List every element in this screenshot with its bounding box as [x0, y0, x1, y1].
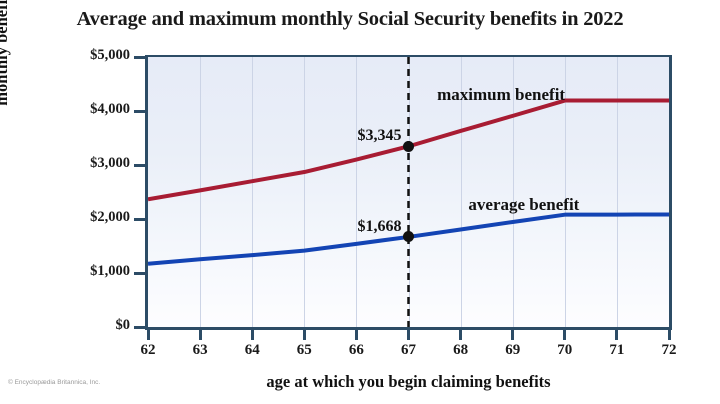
x-axis-tick-mark [511, 329, 514, 340]
x-axis-tick-mark [459, 329, 462, 340]
x-axis-tick-mark [251, 329, 254, 340]
x-axis-tick-label: 66 [336, 342, 376, 359]
x-axis-tick-label: 62 [128, 342, 168, 359]
x-axis-tick-mark [563, 329, 566, 340]
plot-area: $3,345$1,668maximum benefitaverage benef… [145, 55, 672, 330]
y-axis-tick-label: $0 [38, 317, 130, 334]
y-axis-title: monthly benefit [0, 0, 12, 150]
x-axis-tick-label: 69 [493, 342, 533, 359]
x-axis-tick-label: 64 [232, 342, 272, 359]
plot-inner: $3,345$1,668maximum benefitaverage benef… [148, 57, 669, 327]
x-axis-tick-label: 70 [545, 342, 585, 359]
x-axis-tick-label: 68 [441, 342, 481, 359]
x-axis-tick-label: 71 [597, 342, 637, 359]
x-axis-tick-mark [355, 329, 358, 340]
x-axis-title: age at which you begin claiming benefits [145, 372, 672, 392]
copyright-credit: © Encyclopædia Britannica, Inc. [8, 379, 100, 386]
y-axis-tick-label: $3,000 [38, 155, 130, 172]
value-label-average-benefit-at-67: $1,668 [312, 218, 402, 236]
value-label-maximum-benefit-at-67: $3,345 [312, 127, 402, 145]
chart-title: Average and maximum monthly Social Secur… [0, 8, 700, 31]
chart-figure: Average and maximum monthly Social Secur… [0, 0, 720, 404]
y-axis-tick-label: $1,000 [38, 263, 130, 280]
x-axis-tick-mark [303, 329, 306, 340]
x-axis-tick-mark [199, 329, 202, 340]
series-label-average-benefit: average benefit [468, 195, 579, 215]
series-label-maximum-benefit: maximum benefit [437, 85, 565, 105]
x-axis-tick-mark [668, 329, 671, 340]
y-axis-tick-label: $5,000 [38, 47, 130, 64]
x-axis-tick-mark [407, 329, 410, 340]
x-axis-tick-mark [147, 329, 150, 340]
y-axis-tick-label: $4,000 [38, 101, 130, 118]
data-point-marker [403, 141, 414, 152]
x-axis-tick-label: 63 [180, 342, 220, 359]
x-axis-tick-mark [615, 329, 618, 340]
x-axis-tick-label: 72 [649, 342, 689, 359]
series-lines [148, 57, 669, 327]
x-axis-tick-label: 65 [284, 342, 324, 359]
x-axis-tick-label: 67 [389, 342, 429, 359]
y-axis-tick-label: $2,000 [38, 209, 130, 226]
